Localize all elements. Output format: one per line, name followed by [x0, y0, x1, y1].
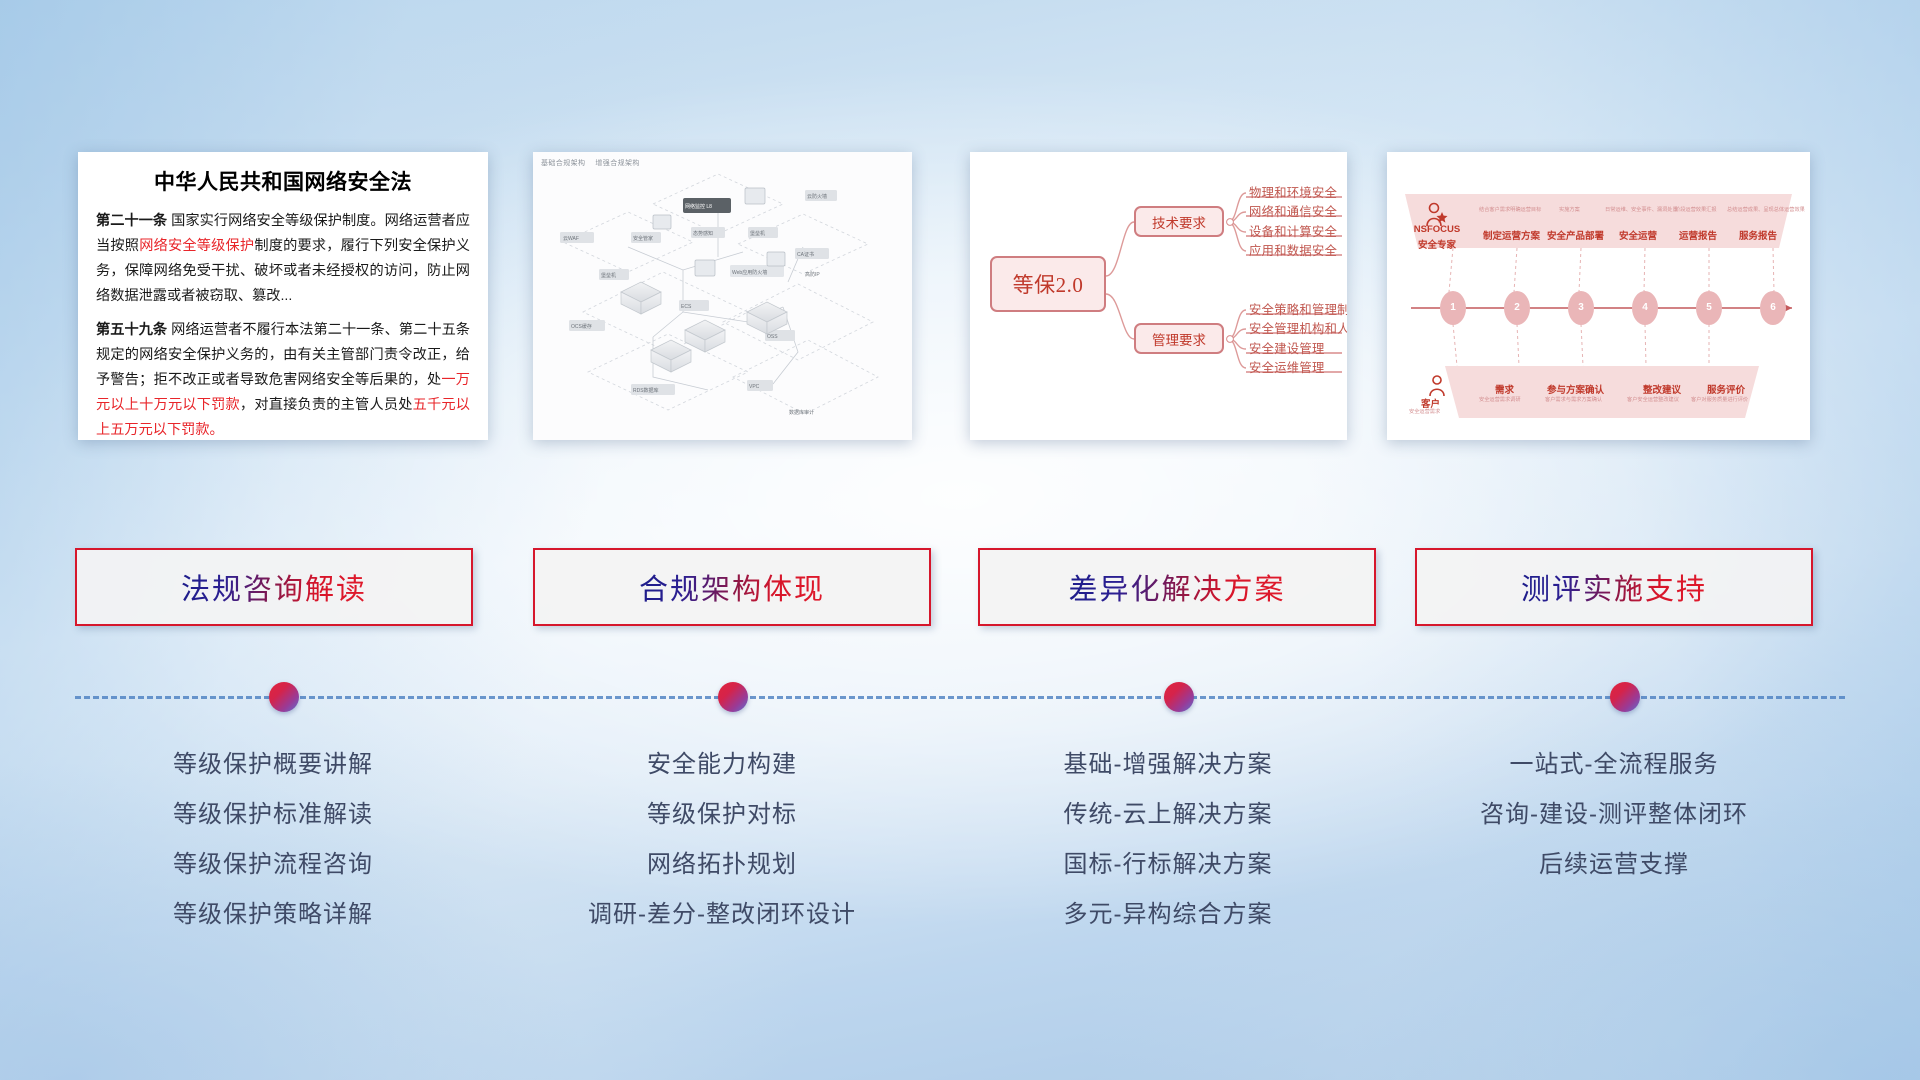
nsfocus-top-sub-4: 总结运营成果、呈现总体运营效果: [1727, 206, 1805, 213]
nsfocus-bottom-sub-3: 客户安全运营整改建议: [1627, 396, 1679, 403]
nsfocus-step-number-2: 2: [1504, 302, 1530, 313]
pillar-item-4-1: 咨询-建设-测评整体闭环: [1399, 790, 1829, 840]
pillar-items-1: 等级保护概要讲解 等级保护标准解读 等级保护流程咨询 等级保护策略详解: [58, 740, 488, 940]
timeline-dot-4[interactable]: [1610, 682, 1640, 712]
nsfocus-top-sub-3: 阶段运营效果汇报: [1675, 206, 1717, 213]
mindmap-root-node[interactable]: 等保2.0: [990, 256, 1106, 312]
svg-text:OCS缓存: OCS缓存: [571, 323, 592, 330]
timeline-dot-3[interactable]: [1164, 682, 1194, 712]
svg-text:安全管家: 安全管家: [633, 235, 653, 242]
svg-text:CA证书: CA证书: [797, 251, 814, 258]
architecture-diagram: 基础合规架构增强合规架构: [533, 152, 912, 440]
nsfocus-step-number-6: 6: [1760, 302, 1786, 313]
svg-text:堡垒机: 堡垒机: [750, 230, 765, 237]
svg-text:云防火墙: 云防火墙: [807, 193, 827, 200]
nsfocus-top-label-2: 安全运营: [1619, 228, 1657, 242]
pillar-item-3-3: 多元-异构综合方案: [953, 890, 1383, 940]
pillar-items-2: 安全能力构建 等级保护对标 网络拓扑规划 调研-差分-整改闭环设计: [507, 740, 937, 940]
pillar-items-4: 一站式-全流程服务 咨询-建设-测评整体闭环 后续运营支撑: [1399, 740, 1829, 890]
pillar-title-box-1[interactable]: 法规咨询解读: [75, 548, 473, 626]
pillar-item-2-3: 调研-差分-整改闭环设计: [507, 890, 937, 940]
law-article-label-1: 第二十一条: [96, 213, 167, 229]
nsfocus-top-label-4: 服务报告: [1739, 228, 1777, 242]
pillar-item-2-0: 安全能力构建: [507, 740, 937, 790]
svg-text:堡垒机: 堡垒机: [601, 272, 616, 279]
pillar-title-4: 测评实施支持: [1521, 566, 1707, 608]
nsfocus-bottom-sub-2: 客户需求与需求方案确认: [1545, 396, 1602, 403]
law-card-title: 中华人民共和国网络安全法: [96, 166, 470, 196]
nsfocus-bottom-label-3: 整改建议: [1643, 382, 1681, 396]
pillar-item-1-1: 等级保护标准解读: [58, 790, 488, 840]
mindmap-leaf-t3: 应用和数据安全: [1249, 241, 1337, 259]
architecture-card[interactable]: 基础合规架构增强合规架构: [533, 152, 912, 440]
mindmap-leaf-m0: 安全策略和管理制度: [1249, 300, 1347, 318]
mindmap-card[interactable]: 等保2.0 技术要求 管理要求 物理和环境安全 网络和通信安全 设备和计算安全 …: [970, 152, 1347, 440]
nsfocus-top-label-0: 制定运营方案: [1483, 228, 1540, 242]
svg-text:态势感知: 态势感知: [693, 230, 713, 237]
mindmap-leaf-m1: 安全管理机构和人员: [1249, 319, 1347, 337]
pillar-item-2-2: 网络拓扑规划: [507, 840, 937, 890]
nsfocus-brand: NSFOCUS: [1409, 224, 1465, 235]
pillar-title-3: 差异化解决方案: [1068, 566, 1285, 608]
nsfocus-top-sub-1: 实施方案: [1559, 206, 1580, 213]
svg-text:数据库审计: 数据库审计: [789, 409, 814, 416]
mindmap-leaf-m3: 安全运维管理: [1249, 358, 1325, 376]
timeline-dashed-line: [75, 696, 1845, 699]
law-paragraph-1: 第二十一条 国家实行网络安全等级保护制度。网络运营者应当按照网络安全等级保护制度…: [96, 209, 470, 309]
pillar-title-1: 法规咨询解读: [181, 566, 367, 608]
pillar-item-1-0: 等级保护概要讲解: [58, 740, 488, 790]
timeline-dot-2[interactable]: [718, 682, 748, 712]
pillar-title-box-4[interactable]: 测评实施支持: [1415, 548, 1813, 626]
architecture-svg: 云WAF 安全管家 态势感知 堡垒机 云防火墙 CA证书 Web应用防火墙 堡垒…: [533, 152, 912, 440]
svg-text:Web应用防火墙: Web应用防火墙: [732, 269, 767, 276]
nsfocus-bottom-label-4: 服务评价: [1707, 382, 1745, 396]
svg-text:网络监控 L8: 网络监控 L8: [685, 203, 712, 210]
nsfocus-bottom-label-1: 需求: [1495, 382, 1514, 396]
nsfocus-top-sub-2: 日常运维、安全事件、漏洞处置: [1605, 206, 1678, 213]
nsfocus-brand-sub: 安全专家: [1409, 237, 1465, 251]
law-seg-1-1: 网络安全等级保护: [139, 238, 254, 254]
mindmap-branch-management[interactable]: 管理要求: [1134, 323, 1224, 354]
svg-text:高防IP: 高防IP: [805, 271, 820, 278]
thumbnail-row: 中华人民共和国网络安全法 第二十一条 国家实行网络安全等级保护制度。网络运营者应…: [0, 152, 1920, 440]
nsfocus-step-number-3: 3: [1568, 302, 1594, 313]
pillar-item-4-0: 一站式-全流程服务: [1399, 740, 1829, 790]
mindmap-leaf-t2: 设备和计算安全: [1249, 222, 1337, 240]
pillar-title-box-3[interactable]: 差异化解决方案: [978, 548, 1376, 626]
nsfocus-bottom-sub-1: 安全运营需求调研: [1479, 396, 1521, 403]
nsfocus-bottom-sub-4: 客户对服务质量进行评价: [1691, 396, 1748, 403]
pillar-item-1-3: 等级保护策略详解: [58, 890, 488, 940]
svg-text:RDS数据库: RDS数据库: [633, 387, 659, 394]
pillar-item-3-1: 传统-云上解决方案: [953, 790, 1383, 840]
svg-text:OSS: OSS: [767, 334, 778, 340]
mindmap-branch-technical[interactable]: 技术要求: [1134, 206, 1224, 237]
law-article-label-2: 第五十九条: [96, 322, 167, 338]
pillar-item-2-1: 等级保护对标: [507, 790, 937, 840]
law-paragraph-2: 第五十九条 网络运营者不履行本法第二十一条、第二十五条规定的网络安全保护义务的，…: [96, 318, 470, 440]
svg-text:ECS: ECS: [681, 304, 692, 310]
timeline-dot-1[interactable]: [269, 682, 299, 712]
nsfocus-bottom-label-2: 参与方案确认: [1547, 382, 1604, 396]
law-card[interactable]: 中华人民共和国网络安全法 第二十一条 国家实行网络安全等级保护制度。网络运营者应…: [78, 152, 488, 440]
pillar-item-3-2: 国标-行标解决方案: [953, 840, 1383, 890]
pillar-title-2: 合规架构体现: [639, 566, 825, 608]
law-seg-2-2: ，对直接负责的主管人员处: [240, 397, 413, 413]
mindmap-leaf-m2: 安全建设管理: [1249, 339, 1325, 357]
nsfocus-card[interactable]: NSFOCUS 安全专家 结合客户需求明确运营目标 制定运营方案 实施方案 安全…: [1387, 152, 1810, 440]
mindmap-leaf-t1: 网络和通信安全: [1249, 202, 1337, 220]
timeline: [75, 695, 1845, 699]
svg-text:VPC: VPC: [749, 384, 760, 390]
nsfocus-timeline: NSFOCUS 安全专家 结合客户需求明确运营目标 制定运营方案 实施方案 安全…: [1387, 152, 1810, 440]
nsfocus-top-label-1: 安全产品部署: [1547, 228, 1604, 242]
law-card-body: 中华人民共和国网络安全法 第二十一条 国家实行网络安全等级保护制度。网络运营者应…: [78, 152, 488, 440]
nsfocus-top-label-3: 运营报告: [1679, 228, 1717, 242]
pillar-item-3-0: 基础-增强解决方案: [953, 740, 1383, 790]
svg-text:云WAF: 云WAF: [563, 236, 579, 242]
pillar-title-box-2[interactable]: 合规架构体现: [533, 548, 931, 626]
pillar-item-1-2: 等级保护流程咨询: [58, 840, 488, 890]
nsfocus-step-number-5: 5: [1696, 302, 1722, 313]
nsfocus-top-sub-0: 结合客户需求明确运营目标: [1479, 206, 1541, 213]
mindmap-leaf-t0: 物理和环境安全: [1249, 183, 1337, 201]
nsfocus-step-number-4: 4: [1632, 302, 1658, 313]
pillar-items-3: 基础-增强解决方案 传统-云上解决方案 国标-行标解决方案 多元-异构综合方案: [953, 740, 1383, 940]
mindmap-diagram: 等保2.0 技术要求 管理要求 物理和环境安全 网络和通信安全 设备和计算安全 …: [970, 152, 1347, 440]
pillar-item-4-2: 后续运营支撑: [1399, 840, 1829, 890]
nsfocus-bottom-sub-0: 安全运营需求: [1409, 408, 1440, 415]
nsfocus-step-number-1: 1: [1440, 302, 1466, 313]
